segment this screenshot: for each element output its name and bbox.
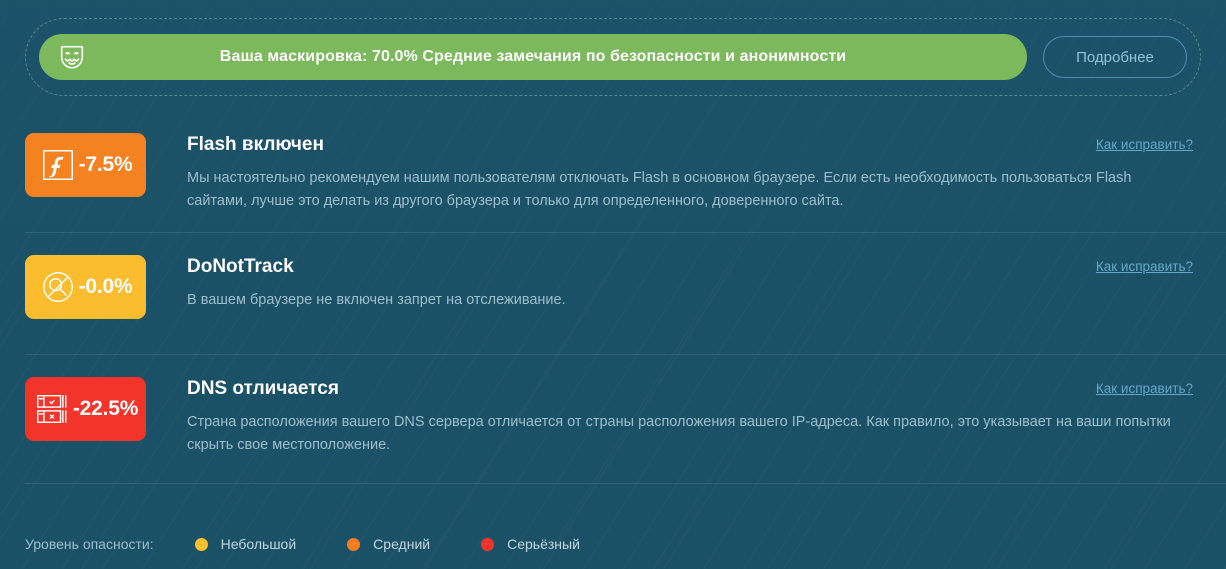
- flash-icon: [39, 146, 77, 184]
- result-row-donottrack: -0.0% DoNotTrack Как исправить? В вашем …: [0, 232, 1226, 354]
- legend-item-serious: Серьёзный: [481, 536, 580, 552]
- how-to-fix-link[interactable]: Как исправить?: [1096, 381, 1193, 396]
- legend-section: Уровень опасности: Небольшой Средний Сер…: [0, 483, 1226, 569]
- result-title: DoNotTrack: [187, 256, 1096, 278]
- result-description: В вашем браузере не включен запрет на от…: [187, 289, 1177, 312]
- legend-item-label: Небольшой: [221, 536, 297, 552]
- result-description: Мы настоятельно рекомендуем нашим пользо…: [187, 167, 1177, 213]
- page-root: Ваша маскировка: 70.0% Средние замечания…: [0, 0, 1226, 569]
- result-row-flash: -7.5% Flash включен Как исправить? Мы на…: [0, 110, 1226, 232]
- danger-level-legend: Уровень опасности: Небольшой Средний Сер…: [25, 536, 631, 552]
- severity-badge: -0.0%: [25, 255, 146, 319]
- legend-label: Уровень опасности:: [25, 536, 154, 552]
- dns-server-icon: [33, 390, 71, 428]
- result-description: Страна расположения вашего DNS сервера о…: [187, 411, 1177, 457]
- legend-dot-icon: [195, 538, 208, 551]
- legend-dot-icon: [481, 538, 494, 551]
- severity-badge: -22.5%: [25, 377, 146, 441]
- masking-banner-text: Ваша маскировка: 70.0% Средние замечания…: [39, 48, 1027, 66]
- masking-progress-bar: Ваша маскировка: 70.0% Средние замечания…: [39, 34, 1027, 80]
- anonymous-mask-icon: [57, 42, 87, 72]
- how-to-fix-link[interactable]: Как исправить?: [1096, 137, 1193, 152]
- badge-value: -0.0%: [79, 275, 133, 299]
- result-title: Flash включен: [187, 134, 1096, 156]
- masking-banner: Ваша маскировка: 70.0% Средние замечания…: [25, 18, 1201, 96]
- badge-value: -7.5%: [79, 153, 133, 177]
- results-list: -7.5% Flash включен Как исправить? Мы на…: [0, 110, 1226, 476]
- result-title: DNS отличается: [187, 378, 1096, 400]
- legend-item-medium: Средний: [347, 536, 430, 552]
- severity-badge: -7.5%: [25, 133, 146, 197]
- legend-item-label: Серьёзный: [507, 536, 580, 552]
- legend-item-low: Небольшой: [195, 536, 297, 552]
- result-row-dns: -22.5% DNS отличается Как исправить? Стр…: [0, 354, 1226, 476]
- legend-dot-icon: [347, 538, 360, 551]
- legend-item-label: Средний: [373, 536, 430, 552]
- do-not-track-icon: [39, 268, 77, 306]
- details-button[interactable]: Подробнее: [1043, 36, 1187, 78]
- badge-value: -22.5%: [73, 397, 138, 421]
- how-to-fix-link[interactable]: Как исправить?: [1096, 259, 1193, 274]
